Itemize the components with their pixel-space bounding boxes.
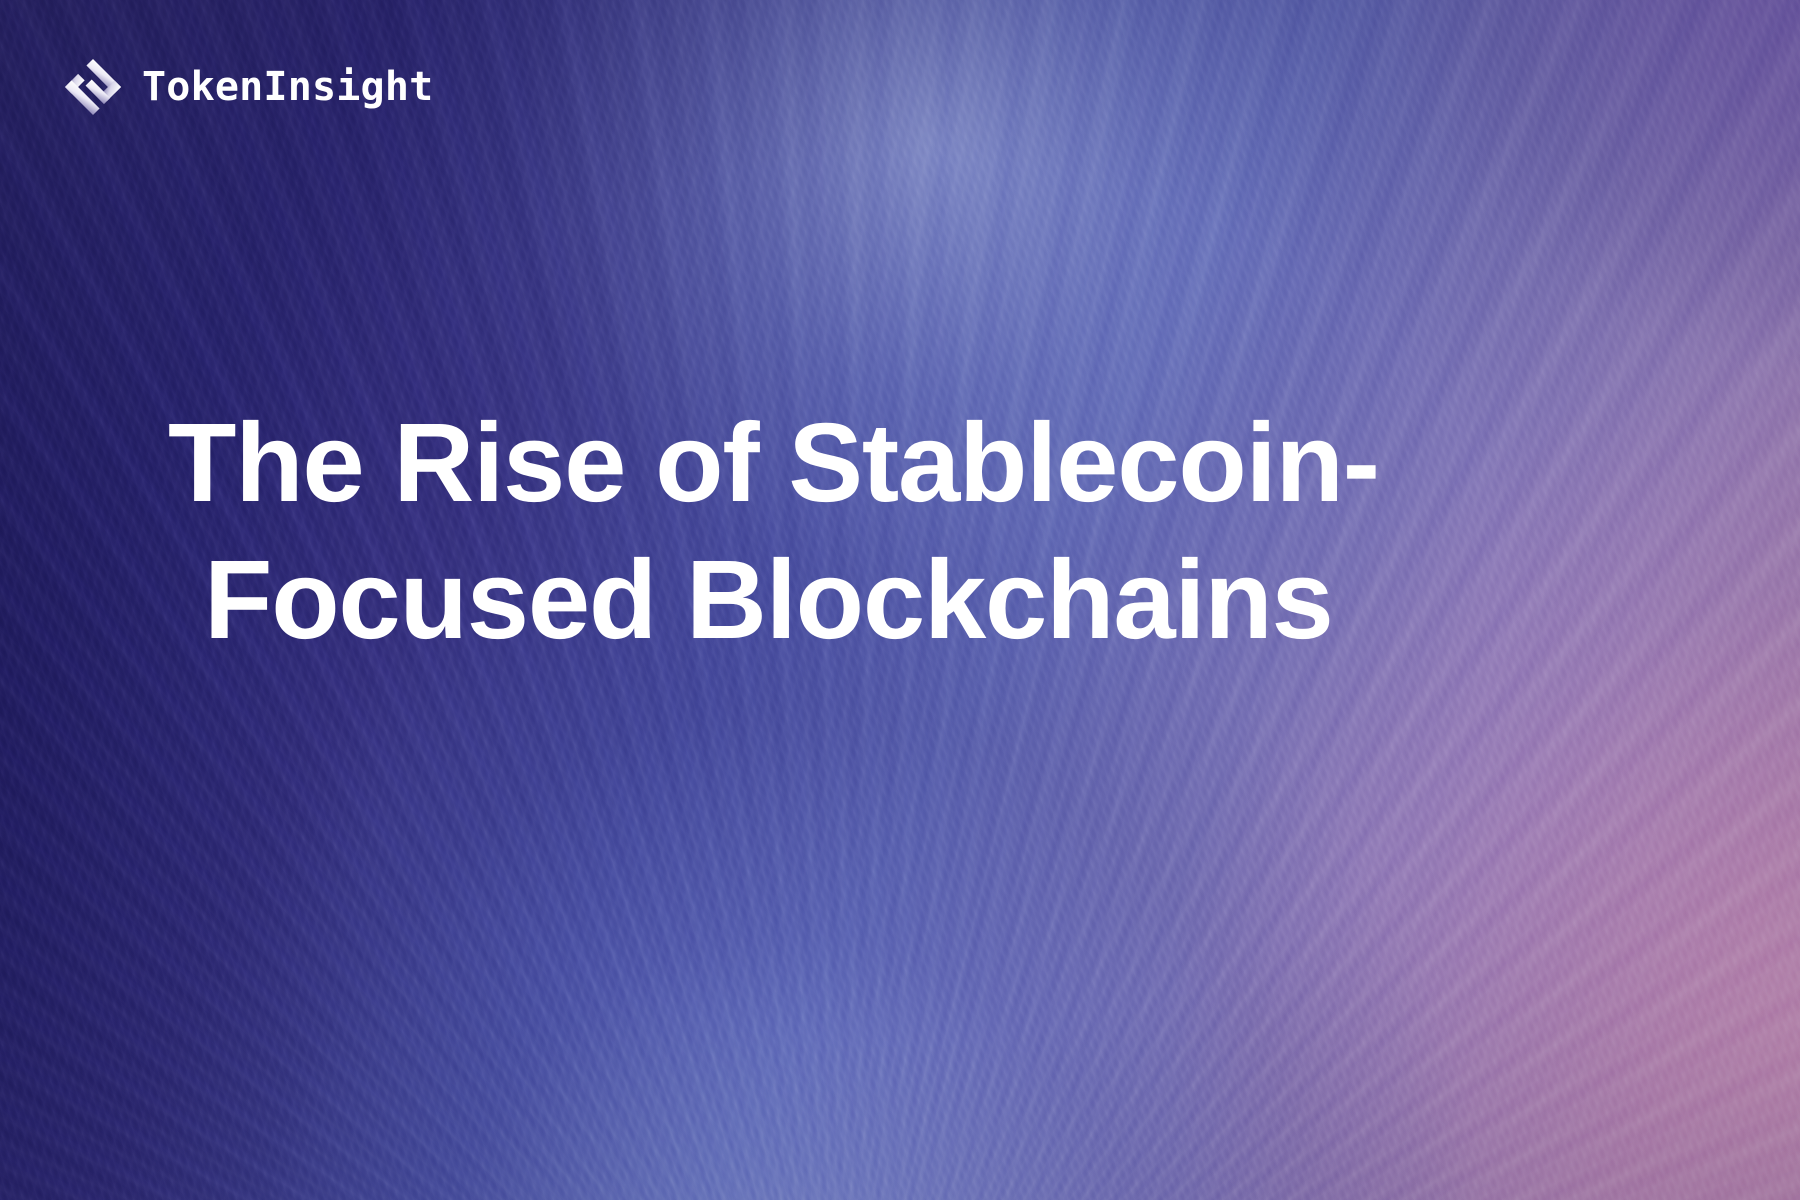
brand-logo: TokenInsight <box>62 56 433 118</box>
tokeninsight-diamond-logo-icon <box>62 56 124 118</box>
brand-wordmark: TokenInsight <box>142 67 433 107</box>
page-title: The Rise of Stablecoin- Focused Blockcha… <box>168 395 1648 668</box>
title-line-2: Focused Blockchains <box>168 532 1648 669</box>
report-cover: TokenInsight The Rise of Stablecoin- Foc… <box>0 0 1800 1200</box>
title-line-1: The Rise of Stablecoin- <box>168 395 1648 532</box>
cover-title-block: The Rise of Stablecoin- Focused Blockcha… <box>168 395 1648 668</box>
